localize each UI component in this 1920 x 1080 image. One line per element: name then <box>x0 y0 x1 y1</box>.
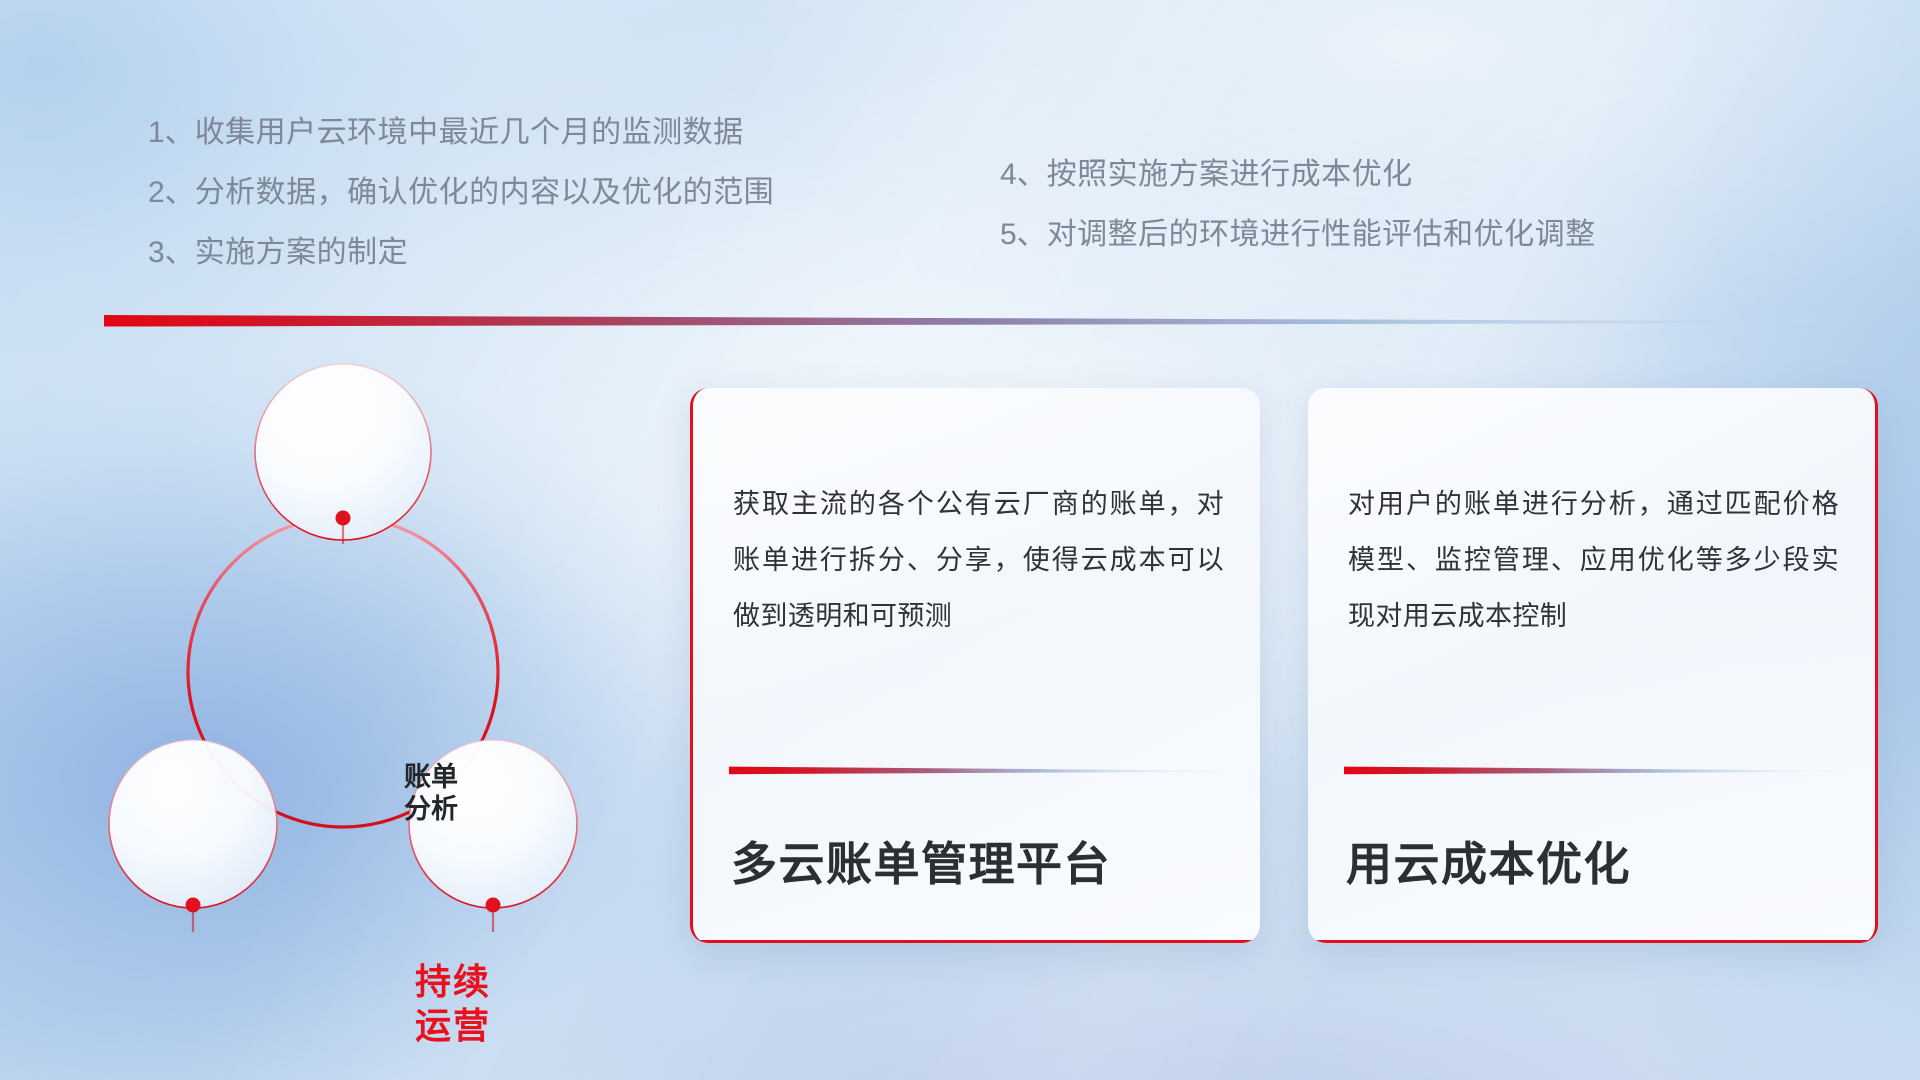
step-item: 5、对调整后的环境进行性能评估和优化调整 <box>1000 220 1596 250</box>
diagram-svg <box>90 352 650 952</box>
step-text: 实施方案的制定 <box>195 236 409 269</box>
step-text: 按照实施方案进行成本优化 <box>1047 158 1413 191</box>
card-title: 用云成本优化 <box>1346 828 1631 894</box>
center-label-line2: 运营 <box>358 1004 548 1048</box>
section-divider-line <box>104 314 1816 328</box>
center-label-line1: 持续 <box>358 960 548 1004</box>
step-text: 收集用户云环境中最近几个月的监测数据 <box>195 116 744 149</box>
slide-canvas: 1、收集用户云环境中最近几个月的监测数据 2、分析数据，确认优化的内容以及优化的… <box>0 0 1920 1080</box>
step-number: 4、 <box>1000 158 1047 191</box>
dot-top <box>336 511 351 526</box>
dot-right <box>486 898 501 913</box>
step-number: 3、 <box>148 236 195 269</box>
step-item: 3、实施方案的制定 <box>148 238 774 268</box>
step-item: 4、按照实施方案进行成本优化 <box>1000 160 1596 190</box>
step-text: 分析数据，确认优化的内容以及优化的范围 <box>195 176 775 209</box>
card-body-text: 对用户的账单进行分析，通过匹配价格模型、监控管理、应用优化等多少段实现对用云成本… <box>1348 476 1839 644</box>
diagram-center-label: 持续 运营 <box>358 960 548 1048</box>
card-body-text: 获取主流的各个公有云厂商的账单，对账单进行拆分、分享，使得云成本可以做到透明和可… <box>733 476 1224 644</box>
card-cloud-cost-optimization[interactable]: 对用户的账单进行分析，通过匹配价格模型、监控管理、应用优化等多少段实现对用云成本… <box>1308 388 1878 943</box>
step-text: 对调整后的环境进行性能评估和优化调整 <box>1047 218 1596 251</box>
step-number: 5、 <box>1000 218 1047 251</box>
steps-left-column: 1、收集用户云环境中最近几个月的监测数据 2、分析数据，确认优化的内容以及优化的… <box>148 118 774 298</box>
card-divider-line <box>1344 766 1840 775</box>
bubble-operation[interactable] <box>109 740 277 908</box>
card-multicloud-billing[interactable]: 获取主流的各个公有云厂商的账单，对账单进行拆分、分享，使得云成本可以做到透明和可… <box>690 388 1260 943</box>
step-item: 2、分析数据，确认优化的内容以及优化的范围 <box>148 178 774 208</box>
continuous-operation-diagram: 账单 分析 操作 运营 优化 策略 持续 运营 <box>90 352 650 952</box>
step-item: 1、收集用户云环境中最近几个月的监测数据 <box>148 118 774 148</box>
dot-left <box>186 898 201 913</box>
card-title: 多云账单管理平台 <box>731 828 1111 894</box>
bubble-optimization[interactable] <box>409 740 577 908</box>
card-divider-line <box>729 766 1225 775</box>
step-number: 2、 <box>148 176 195 209</box>
step-number: 1、 <box>148 116 195 149</box>
steps-right-column: 4、按照实施方案进行成本优化 5、对调整后的环境进行性能评估和优化调整 <box>1000 160 1596 280</box>
